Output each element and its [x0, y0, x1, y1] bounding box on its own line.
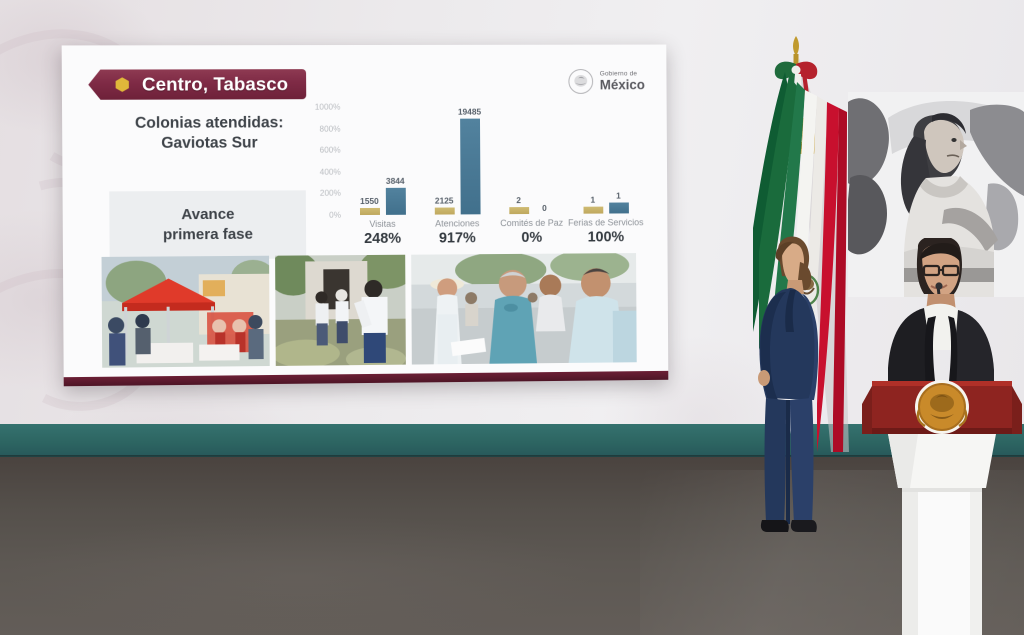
- chart-y-axis: 0%200%400%600%800%1000%: [296, 107, 341, 215]
- chart-category: Visitas248%: [364, 219, 401, 247]
- avance-primera-fase-box: Avance primera fase: [109, 190, 306, 260]
- chart-category: Comités de Paz0%: [500, 218, 563, 246]
- y-axis-tick: 800%: [296, 124, 340, 133]
- chart-plot-area: 155038442125194852011: [344, 106, 644, 215]
- y-axis-tick: 600%: [296, 146, 340, 155]
- y-axis-tick: 200%: [297, 189, 341, 198]
- chart-bar-value: 2125: [435, 196, 454, 206]
- woman-in-navy-suit-standing: [744, 232, 836, 538]
- chart-bar-value: 19485: [458, 107, 481, 117]
- chart-bar-group: 11: [568, 106, 643, 214]
- chart-bar-rect: [583, 207, 603, 214]
- chart-category: Ferias de Servicios100%: [568, 217, 644, 245]
- chart-bar-rect: [460, 119, 480, 215]
- photo-officials-conversation: [411, 253, 637, 364]
- chart-bar: 19485: [460, 119, 480, 215]
- logo-line-2: México: [600, 78, 645, 92]
- presentation-slide: Centro, Tabasco Gobierno de México Colon…: [62, 45, 669, 387]
- chart-bar: 2: [509, 207, 529, 214]
- hexagon-icon: [115, 77, 130, 93]
- photo-red-canopy-event: [102, 256, 270, 368]
- chart-category-percentage: 0%: [500, 230, 563, 246]
- chart-category-name: Atenciones: [435, 218, 479, 228]
- photo-strip: [102, 253, 637, 368]
- press-conference-stage: Centro, Tabasco Gobierno de México Colon…: [0, 0, 1024, 635]
- avance-line-1: Avance: [181, 205, 234, 226]
- chart-bar-value: 1: [591, 195, 596, 205]
- chart-category-percentage: 248%: [364, 231, 401, 247]
- chart-bar-value: 1550: [360, 196, 379, 206]
- speaker-at-podium: [858, 238, 1024, 635]
- y-axis-tick: 1000%: [296, 103, 340, 112]
- chart-bar: 3844: [385, 188, 405, 215]
- chart-category-name: Comités de Paz: [500, 218, 563, 228]
- photo-street-cleanup: [275, 255, 406, 366]
- chart-category-name: Visitas: [364, 219, 401, 229]
- chart-bar-rect: [385, 188, 405, 215]
- chart-bar-rect: [434, 207, 454, 214]
- chart-bar-value: 0: [542, 203, 547, 213]
- slide-title: Centro, Tabasco: [142, 73, 288, 95]
- colonias-value: Gaviotas Sur: [101, 134, 318, 155]
- slide-title-banner: Centro, Tabasco: [88, 69, 306, 100]
- chart-bar-group: 15503844: [344, 107, 420, 215]
- mexican-national-seal-icon: [568, 69, 594, 95]
- chart-bar: 1: [609, 203, 629, 214]
- chart-bar-group: 212519485: [419, 107, 494, 215]
- chart-category-name: Ferias de Servicios: [568, 217, 644, 227]
- chart-bar-rect: [509, 207, 529, 214]
- avance-line-2: primera fase: [163, 225, 253, 246]
- chart-bar: 1550: [359, 208, 379, 215]
- chart-category-percentage: 100%: [568, 229, 644, 245]
- y-axis-tick: 0%: [297, 211, 341, 220]
- chart-bar: 1: [583, 207, 603, 214]
- gobierno-de-mexico-logo: Gobierno de México: [568, 68, 645, 94]
- chart-bar-rect: [609, 203, 629, 214]
- chart-bar-rect: [359, 208, 379, 215]
- chart-bar-value: 1: [616, 191, 621, 201]
- y-axis-tick: 400%: [297, 167, 341, 176]
- colonias-label: Colonias atendidas:: [101, 113, 318, 134]
- chart-bar: 2125: [434, 207, 454, 214]
- chart-bar-value: 3844: [386, 176, 405, 186]
- chart-bar-value: 2: [516, 195, 521, 205]
- chart-bar-group: 20: [494, 106, 569, 214]
- chart-category-percentage: 917%: [435, 230, 479, 246]
- colonias-block: Colonias atendidas: Gaviotas Sur: [101, 113, 318, 155]
- chart-category: Atenciones917%: [435, 218, 479, 246]
